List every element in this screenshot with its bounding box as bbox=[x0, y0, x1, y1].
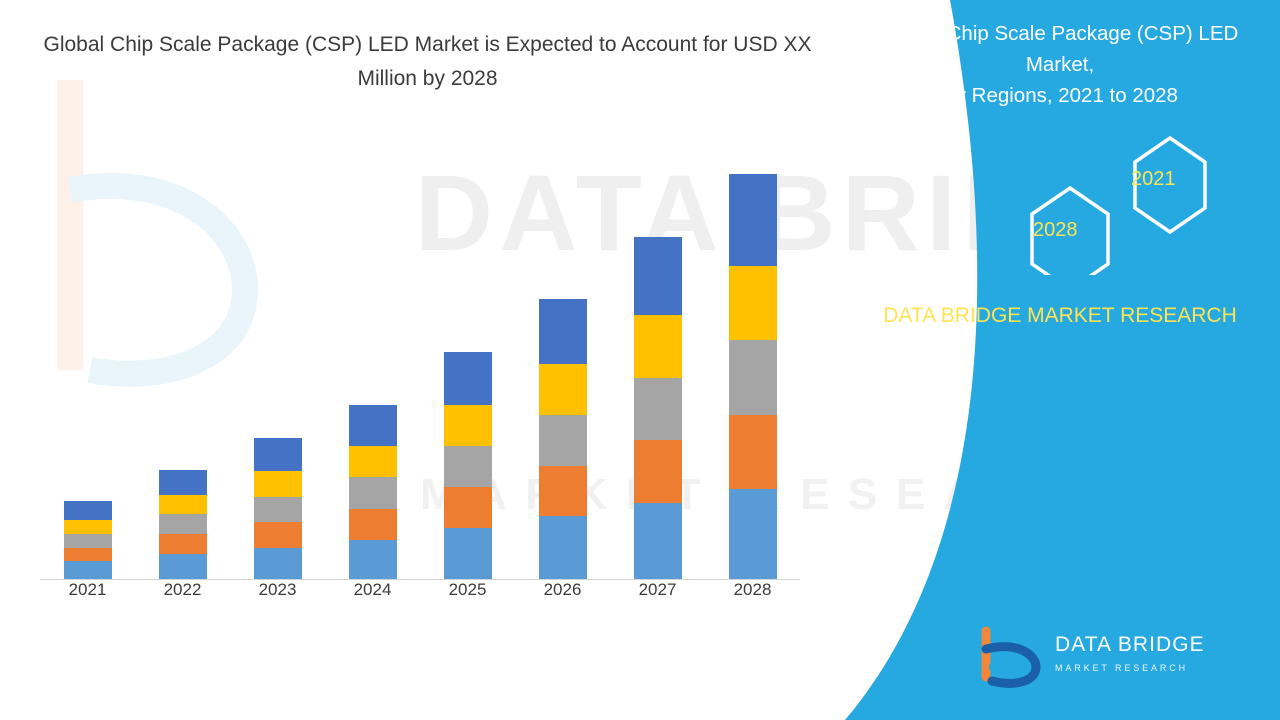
bar-column bbox=[135, 139, 230, 579]
stacked-bar bbox=[349, 405, 397, 579]
bar-column bbox=[420, 139, 515, 579]
bar-segment bbox=[539, 516, 587, 579]
bar-segment bbox=[254, 497, 302, 522]
dbmr-logo-sub: MARKET RESEARCH bbox=[1055, 663, 1205, 673]
bar-segment bbox=[634, 503, 682, 579]
x-axis-tick-label: 2025 bbox=[420, 580, 515, 600]
bar-column bbox=[325, 139, 420, 579]
bar-segment bbox=[64, 548, 112, 562]
bar-segment bbox=[254, 522, 302, 547]
right-panel-title: Global Chip Scale Package (CSP) LED Mark… bbox=[860, 18, 1260, 111]
x-axis-tick-label: 2023 bbox=[230, 580, 325, 600]
bar-series-container bbox=[40, 139, 800, 579]
stacked-bar bbox=[634, 237, 682, 579]
stacked-bar bbox=[539, 299, 587, 579]
bar-segment bbox=[539, 299, 587, 364]
hex-label-2028: 2028 bbox=[1033, 219, 1078, 242]
x-axis-tick-label: 2027 bbox=[610, 580, 705, 600]
bar-column bbox=[705, 139, 800, 579]
bar-segment bbox=[64, 561, 112, 579]
stacked-bar bbox=[254, 438, 302, 579]
x-axis-tick-label: 2022 bbox=[135, 580, 230, 600]
x-axis-labels: 20212022202320242025202620272028 bbox=[40, 580, 800, 600]
hex-label-2021: 2021 bbox=[1131, 168, 1176, 191]
right-panel-brand: DATA BRIDGE MARKET RESEARCH bbox=[860, 300, 1260, 331]
bar-segment bbox=[254, 548, 302, 579]
x-axis-tick-label: 2024 bbox=[325, 580, 420, 600]
bar-segment bbox=[444, 352, 492, 405]
stacked-bar bbox=[64, 501, 112, 579]
bar-segment bbox=[444, 446, 492, 487]
dbmr-logo: DATA BRIDGE MARKET RESEARCH bbox=[970, 625, 1240, 695]
bar-segment bbox=[159, 514, 207, 534]
bar-segment bbox=[254, 438, 302, 471]
right-panel-content: Global Chip Scale Package (CSP) LED Mark… bbox=[820, 0, 1280, 720]
stacked-bar bbox=[444, 352, 492, 579]
x-axis-tick-label: 2028 bbox=[705, 580, 800, 600]
bar-segment bbox=[444, 487, 492, 528]
bar-segment bbox=[539, 466, 587, 517]
bar-segment bbox=[729, 174, 777, 266]
hexagon-group: 2021 2028 bbox=[965, 130, 1215, 275]
bar-segment bbox=[729, 415, 777, 489]
bar-segment bbox=[539, 415, 587, 466]
poster-canvas: DATA BRIDGE MARKET RESEARCH Global Chip … bbox=[0, 0, 1280, 720]
stacked-bar bbox=[159, 470, 207, 579]
bar-column bbox=[610, 139, 705, 579]
bar-segment bbox=[349, 509, 397, 540]
dbmr-logo-name: DATA BRIDGE bbox=[1055, 633, 1205, 657]
bar-segment bbox=[634, 315, 682, 378]
bar-segment bbox=[634, 440, 682, 503]
bar-segment bbox=[64, 534, 112, 548]
bar-segment bbox=[159, 495, 207, 515]
bar-segment bbox=[64, 520, 112, 534]
bar-segment bbox=[159, 470, 207, 495]
bar-segment bbox=[729, 266, 777, 340]
x-axis-tick-label: 2026 bbox=[515, 580, 610, 600]
bar-segment bbox=[729, 489, 777, 579]
bar-segment bbox=[349, 477, 397, 508]
bar-segment bbox=[444, 528, 492, 579]
bar-column bbox=[40, 139, 135, 579]
bar-segment bbox=[729, 340, 777, 414]
bar-segment bbox=[349, 540, 397, 579]
bar-column bbox=[515, 139, 610, 579]
bar-chart: 20212022202320242025202620272028 North A… bbox=[0, 120, 840, 580]
bar-segment bbox=[634, 237, 682, 315]
bar-segment bbox=[634, 378, 682, 441]
bar-segment bbox=[64, 501, 112, 521]
page-title: Global Chip Scale Package (CSP) LED Mark… bbox=[40, 28, 815, 96]
bar-segment bbox=[349, 405, 397, 446]
bar-segment bbox=[539, 364, 587, 415]
bar-segment bbox=[159, 554, 207, 579]
bar-column bbox=[230, 139, 325, 579]
x-axis-tick-label: 2021 bbox=[40, 580, 135, 600]
bar-segment bbox=[159, 534, 207, 554]
bar-segment bbox=[254, 471, 302, 496]
bar-segment bbox=[444, 405, 492, 446]
stacked-bar bbox=[729, 174, 777, 579]
bar-segment bbox=[349, 446, 397, 477]
dbmr-logo-text: DATA BRIDGE MARKET RESEARCH bbox=[1055, 633, 1205, 673]
